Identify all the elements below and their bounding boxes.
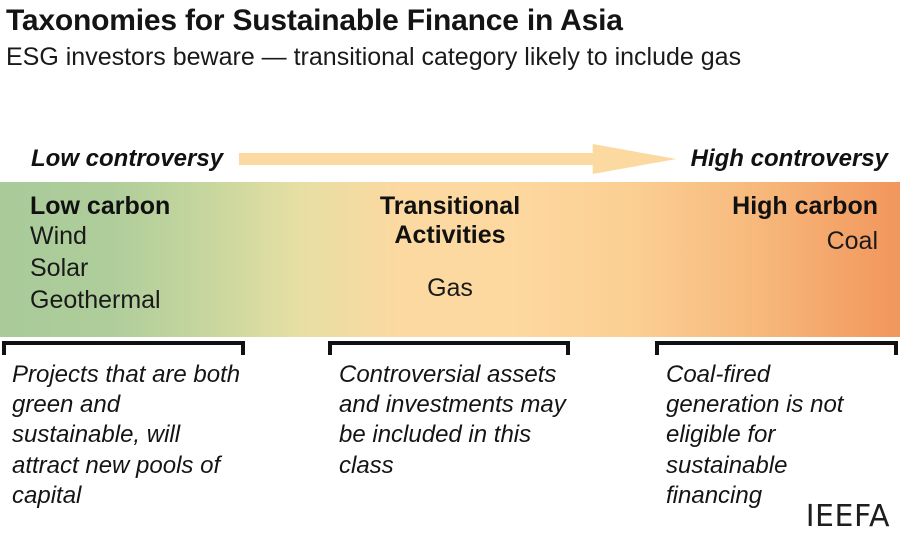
- page-title: Taxonomies for Sustainable Finance in As…: [6, 4, 900, 38]
- bracket-transitional: [328, 341, 570, 355]
- controversy-scale: Low controversy High controversy: [0, 136, 900, 182]
- carbon-spectrum-band: Low carbon Wind Solar Geothermal Transit…: [0, 182, 900, 337]
- column-item-wind: Wind: [30, 221, 300, 253]
- ieefa-logo: IEEFA: [806, 499, 890, 534]
- low-controversy-label: Low controversy: [31, 145, 223, 173]
- spectrum-column-low-carbon: Low carbon Wind Solar Geothermal: [0, 182, 300, 337]
- column-heading-low-carbon: Low carbon: [30, 192, 300, 221]
- column-heading-high-carbon: High carbon: [600, 192, 878, 221]
- column-item-gas: Gas: [300, 273, 600, 305]
- caption-transitional: Controversial assets and investments may…: [339, 360, 589, 481]
- caption-group: Projects that are both green and sustain…: [0, 360, 900, 540]
- page-subtitle: ESG investors beware — transitional cate…: [6, 42, 846, 73]
- header: Taxonomies for Sustainable Finance in As…: [0, 0, 900, 72]
- column-heading-transitional-line1: Transitional: [300, 192, 600, 221]
- caption-high-carbon: Coal-fired generation is not eligible fo…: [666, 360, 881, 511]
- column-heading-transitional-line2: Activities: [300, 221, 600, 250]
- high-controversy-label: High controversy: [691, 145, 888, 173]
- caption-low-carbon: Projects that are both green and sustain…: [12, 360, 252, 511]
- right-arrow-icon: [239, 142, 677, 176]
- spectrum-column-high-carbon: High carbon Coal: [600, 182, 900, 337]
- bracket-group: [0, 341, 900, 357]
- column-item-solar: Solar: [30, 253, 300, 285]
- column-item-geothermal: Geothermal: [30, 285, 300, 317]
- bracket-high-carbon: [655, 341, 898, 355]
- column-item-coal: Coal: [600, 226, 878, 258]
- bracket-low-carbon: [2, 341, 245, 355]
- spectrum-column-transitional: Transitional Activities Gas: [300, 182, 600, 337]
